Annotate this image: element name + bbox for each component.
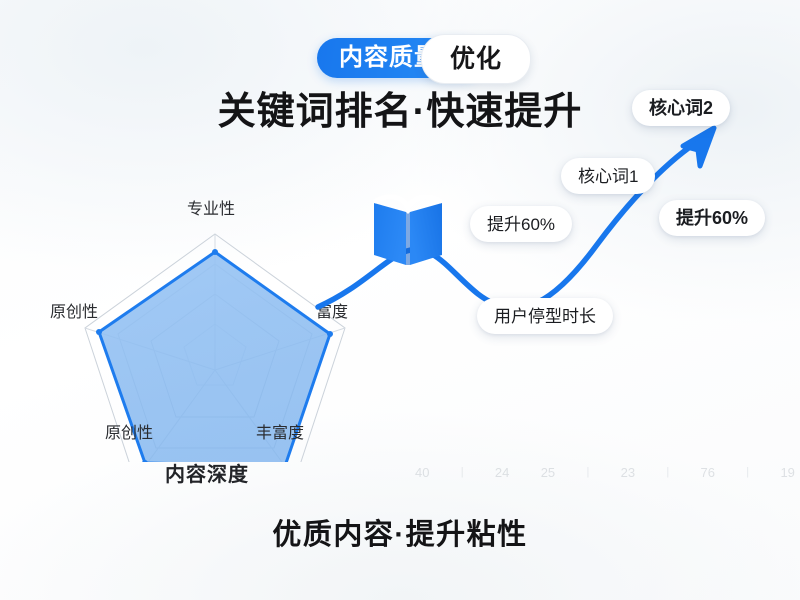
faint-tick-scale: 40 | 24 25 | 23 | 76 | 19 (415, 466, 795, 479)
tick-value: 76 (701, 466, 715, 479)
pill-dwell-time[interactable]: 用户停型时长 (477, 298, 613, 334)
radar-chart-svg (42, 192, 382, 462)
badge-chip[interactable]: 优化 (421, 34, 531, 84)
tick-mark: | (666, 467, 669, 478)
pill-uplift-right[interactable]: 提升60% (659, 200, 765, 236)
page-subtitle: 优质内容·提升粘性 (0, 518, 800, 553)
pill-keyword-2[interactable]: 核心词2 (632, 90, 730, 126)
open-book-icon (366, 185, 450, 275)
tick-value: 24 (495, 466, 509, 479)
radar-axis-label-bottom-left: 原创性 (105, 426, 153, 442)
radar-axis-label-left: 原创性 (50, 305, 98, 321)
radar-axis-label-right: 富度 (316, 305, 348, 321)
radar-chart: 专业性 富度 丰富度 原创性 原创性 (42, 192, 382, 462)
badge-chip-label: 优化 (450, 47, 502, 72)
radar-axis-label-top: 专业性 (187, 202, 235, 218)
tick-value: 25 (541, 466, 555, 479)
tick-value: 19 (780, 466, 794, 479)
pill-uplift-left[interactable]: 提升60% (470, 206, 572, 242)
tick-value: 40 (415, 466, 429, 479)
content-quality-badge[interactable]: 内容质量 优化 (317, 38, 483, 78)
tick-value: 23 (621, 466, 635, 479)
poster-canvas: 内容质量 优化 关键词排名·快速提升 (0, 0, 800, 600)
radar-axis-label-bottom-right: 丰富度 (256, 426, 304, 442)
tick-mark: | (746, 467, 749, 478)
content-depth-label: 内容深度 (165, 465, 249, 485)
badge-group: 内容质量 优化 (0, 38, 800, 78)
tick-mark: | (586, 467, 589, 478)
pill-keyword-1[interactable]: 核心词1 (561, 158, 655, 194)
tick-mark: | (461, 467, 464, 478)
